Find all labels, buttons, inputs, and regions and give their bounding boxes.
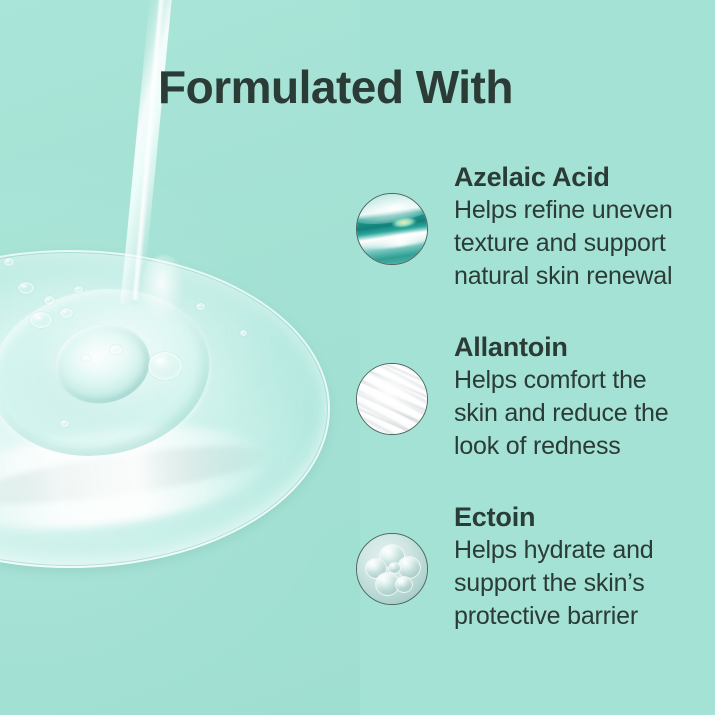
ingredient-description-line: protective barrier — [454, 600, 654, 633]
ingredient-text-block: Allantoin Helps comfort the skin and red… — [454, 330, 668, 463]
ingredient-description-line: natural skin renewal — [454, 260, 673, 293]
gel-bubble — [30, 312, 52, 328]
ingredient-description-line: texture and support — [454, 227, 673, 260]
ingredient-description: Helps refine uneven texture and support … — [454, 194, 673, 293]
ingredient-description-line: Helps comfort the — [454, 364, 668, 397]
gel-bubble — [4, 258, 14, 266]
gel-bubble — [60, 420, 69, 427]
ingredient-description-line: Helps hydrate and — [454, 534, 654, 567]
ingredient-description-line: Helps refine uneven — [454, 194, 673, 227]
pouring-stream-impact — [140, 255, 188, 325]
ingredient-item-ectoin: Ectoin Helps hydrate and support the ski… — [356, 500, 701, 633]
ingredient-text-block: Ectoin Helps hydrate and support the ski… — [454, 500, 654, 633]
gel-bubble — [110, 345, 122, 354]
ingredient-description-line: look of redness — [454, 430, 668, 463]
ingredient-text-block: Azelaic Acid Helps refine uneven texture… — [454, 160, 673, 293]
page-title: Formulated With — [158, 60, 513, 114]
allantoin-texture-icon — [356, 363, 428, 435]
ingredient-item-allantoin: Allantoin Helps comfort the skin and red… — [356, 330, 701, 463]
gel-bubble — [18, 282, 34, 294]
ingredient-description: Helps comfort the skin and reduce the lo… — [454, 364, 668, 463]
gel-bubble — [240, 330, 247, 336]
formulated-with-panel: Formulated With Azelaic Acid Helps refin… — [0, 0, 715, 715]
ingredient-name: Ectoin — [454, 500, 654, 534]
gel-bubble — [60, 308, 73, 318]
azelaic-acid-texture-icon — [356, 193, 428, 265]
ingredient-description-line: skin and reduce the — [454, 397, 668, 430]
gel-bubble-large — [148, 352, 182, 380]
gel-bubble — [196, 303, 205, 310]
ingredient-description-line: support the skin’s — [454, 567, 654, 600]
gel-bubble — [82, 355, 90, 361]
gel-bubble — [74, 286, 83, 293]
ingredient-name: Azelaic Acid — [454, 160, 673, 194]
ingredient-name: Allantoin — [454, 330, 668, 364]
ingredient-description: Helps hydrate and support the skin’s pro… — [454, 534, 654, 633]
gel-bubble — [44, 296, 55, 305]
ingredient-item-azelaic-acid: Azelaic Acid Helps refine uneven texture… — [356, 160, 701, 293]
ectoin-texture-icon — [356, 533, 428, 605]
ingredient-list: Azelaic Acid Helps refine uneven texture… — [356, 160, 701, 670]
